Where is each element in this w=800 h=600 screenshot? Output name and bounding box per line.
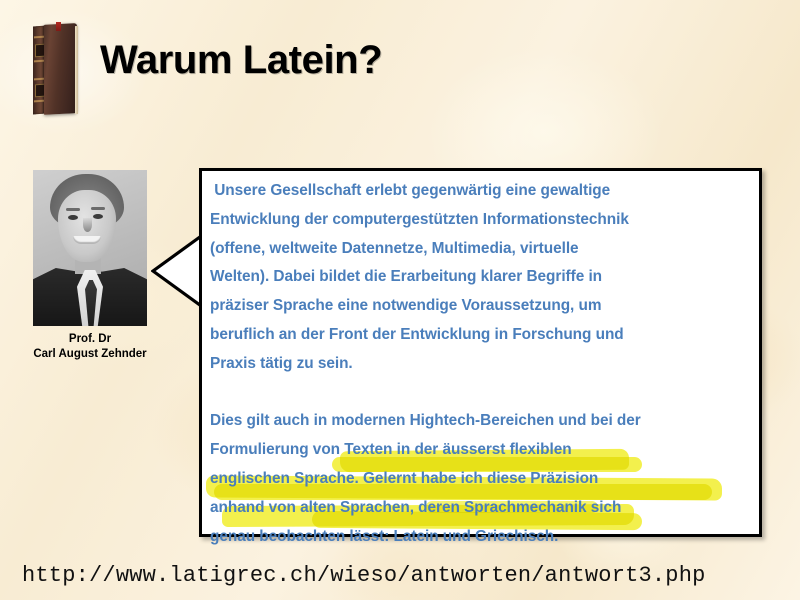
quote-line: Dies gilt auch in modernen Hightech-Bere… [210,412,641,429]
caption-line-1: Prof. Dr [8,332,172,347]
portrait-nose [83,218,92,232]
portrait-eyebrow-left [66,208,80,211]
portrait-mouth [73,236,101,244]
quote-paragraph-2: Dies gilt auch in modernen Hightech-Bere… [210,407,747,551]
quote-line: genau beobachten lässt: Latein und Griec… [210,528,558,545]
avatar [33,170,147,326]
portrait-eyebrow-right [91,207,105,210]
slide-canvas: Warum Latein? Prof. Dr Carl August Zehnd… [0,0,800,600]
book-ribbon [56,22,61,31]
portrait-eye-left [68,215,78,220]
quote-line: (offene, weltweite Datennetze, Multimedi… [210,240,579,257]
quote-line: englischen Sprache. Gelernt habe ich die… [210,470,598,487]
speech-bubble-tail [151,232,205,310]
quote-bubble: Unsere Gesellschaft erlebt gegenwärtig e… [199,168,762,537]
quote-line: Entwicklung der computergestützten Infor… [210,211,629,228]
quote-line: beruflich an der Front der Entwicklung i… [210,326,624,343]
book-cover [44,23,77,115]
quote-line: Unsere Gesellschaft erlebt gegenwärtig e… [210,182,610,199]
quote-line: anhand von alten Sprachen, deren Sprachm… [210,499,621,516]
caption-line-2: Carl August Zehnder [8,347,172,362]
quote-line: Welten). Dabei bildet die Erarbeitung kl… [210,268,602,285]
book-icon [33,22,77,116]
quote-text: Unsere Gesellschaft erlebt gegenwärtig e… [210,177,747,551]
portrait-eye-right [93,214,103,219]
portrait-frame [33,170,147,326]
source-url[interactable]: http://www.latigrec.ch/wieso/antworten/a… [22,563,706,588]
quote-line: Praxis tätig zu sein. [210,355,353,372]
book-page-edge [75,26,78,114]
portrait-caption: Prof. Dr Carl August Zehnder [8,332,172,362]
quote-line: präziser Sprache eine notwendige Vorauss… [210,297,601,314]
page-title: Warum Latein? [100,38,382,83]
quote-line: Formulierung von Texten in der äusserst … [210,441,572,458]
quote-paragraph-1: Unsere Gesellschaft erlebt gegenwärtig e… [210,177,747,379]
